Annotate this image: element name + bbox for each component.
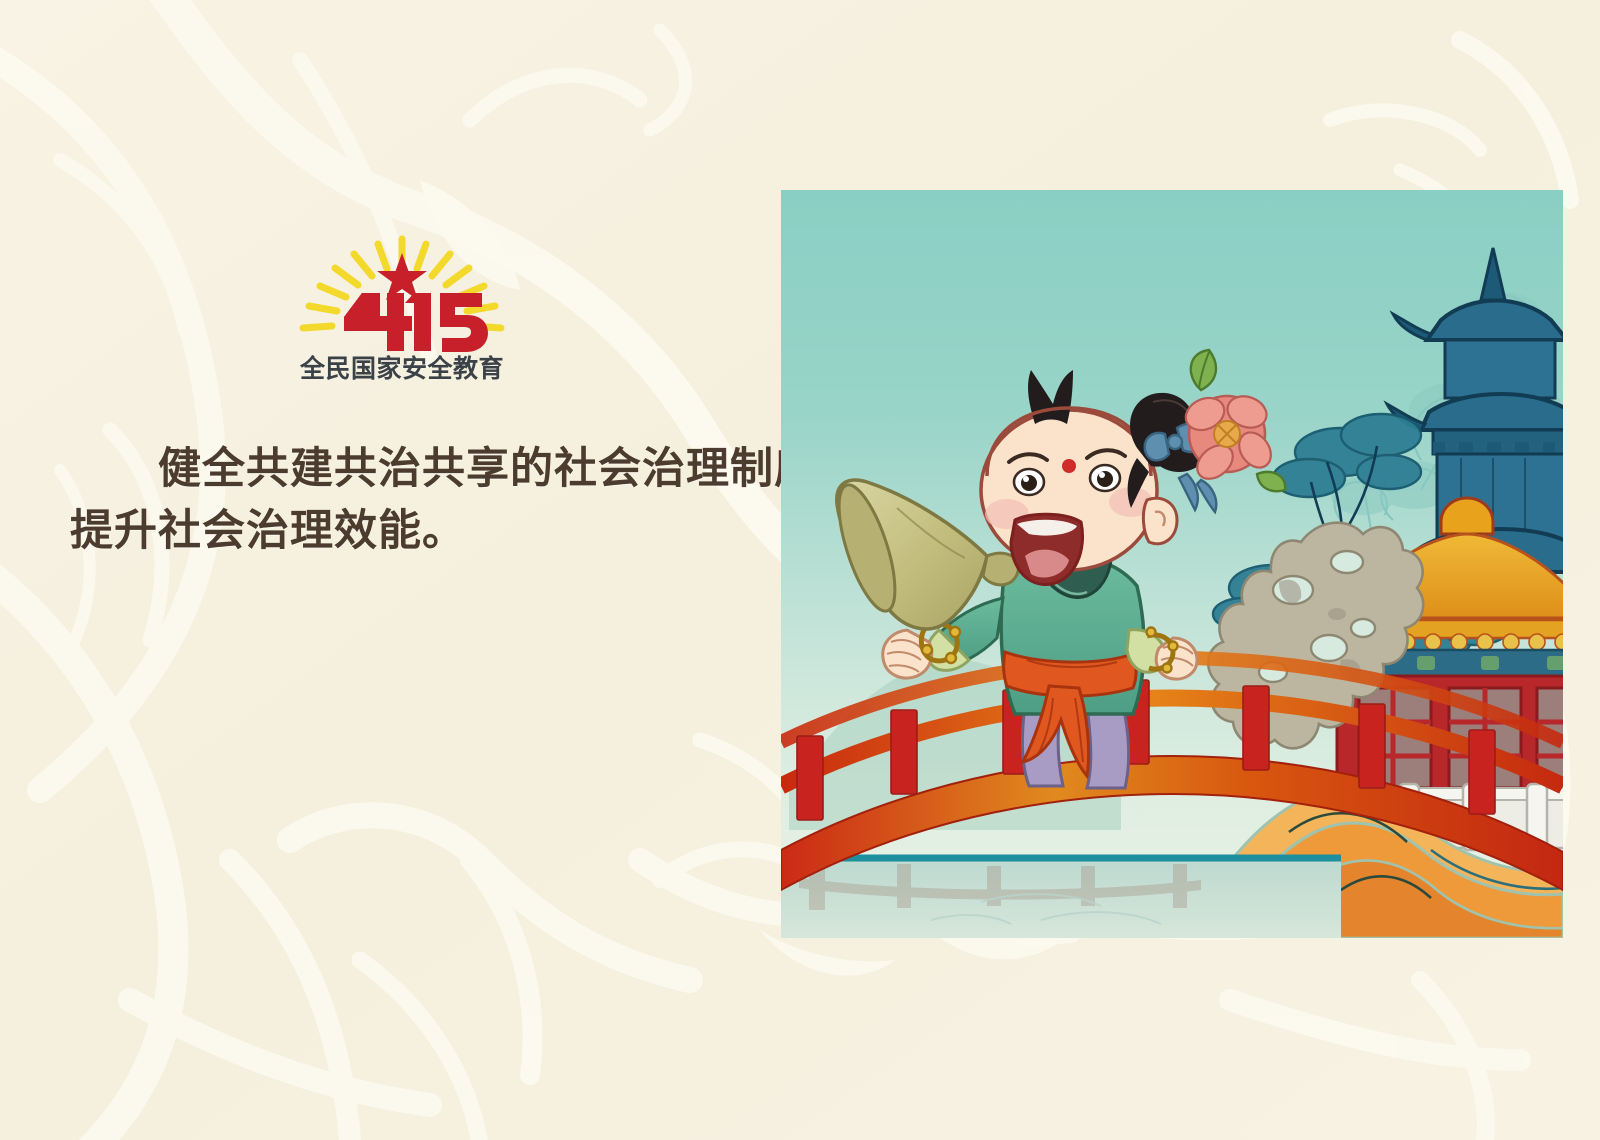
forehead-dot — [1062, 459, 1076, 473]
national-security-education-logo: 全民国家安全教育 — [292, 231, 512, 386]
poster-canvas: 全民国家安全教育 健全共建共治共享的社会治理制度， 提升社会治理效能。 — [0, 0, 1600, 1140]
slogan-line-1: 健全共建共治共享的社会治理制度， — [70, 438, 770, 500]
slogan-text: 健全共建共治共享的社会治理制度， 提升社会治理效能。 — [70, 438, 770, 563]
left-column: 全民国家安全教育 健全共建共治共享的社会治理制度， 提升社会治理效能。 — [0, 0, 781, 1140]
slogan-line-2: 提升社会治理效能。 — [70, 500, 770, 562]
illustration-panel — [781, 190, 1563, 938]
logo-caption: 全民国家安全教育 — [299, 354, 504, 383]
logo-number-415 — [344, 293, 488, 352]
ear — [1143, 498, 1177, 544]
